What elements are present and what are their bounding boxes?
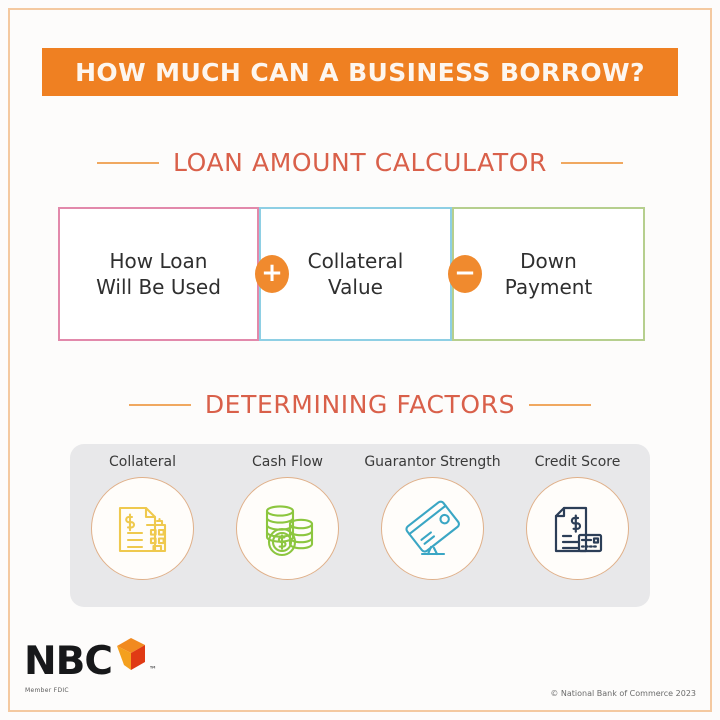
section-heading-factors-label: DETERMINING FACTORS <box>205 390 515 419</box>
minus-icon-glyph: − <box>454 260 476 286</box>
factor-collateral-label: Collateral <box>109 454 176 470</box>
factor-collateral: Collateral <box>75 454 211 580</box>
nbc-logo-trademark: ™ <box>149 665 157 674</box>
factor-guarantor-strength-label: Guarantor Strength <box>364 454 500 470</box>
heading-rule-right <box>529 404 591 406</box>
factor-credit-score-circle <box>526 477 629 580</box>
formula-box-down-payment-line2: Payment <box>505 275 593 299</box>
nbc-logo: NBC ™ <box>24 643 157 680</box>
page-title: HOW MUCH CAN A BUSINESS BORROW? <box>75 58 645 87</box>
formula-box-down-payment-label: Down Payment <box>499 248 599 301</box>
coin-stacks-icon <box>256 497 320 561</box>
section-heading-calculator-label: LOAN AMOUNT CALCULATOR <box>173 148 547 177</box>
formula-box-collateral-value-line2: Value <box>328 275 383 299</box>
factor-cash-flow-circle <box>236 477 339 580</box>
nbc-logo-text: NBC <box>24 643 112 680</box>
copyright-text: © National Bank of Commerce 2023 <box>550 689 696 698</box>
heading-rule-left <box>129 404 191 406</box>
credit-card-icon <box>401 497 465 561</box>
formula-box-collateral-value-line1: Collateral <box>308 249 404 273</box>
orange-cube-icon <box>114 634 148 674</box>
section-heading-factors: DETERMINING FACTORS <box>0 390 720 419</box>
factor-collateral-circle <box>91 477 194 580</box>
factor-credit-score: Credit Score <box>510 454 646 580</box>
factor-credit-score-label: Credit Score <box>535 454 621 470</box>
document-card-icon <box>546 497 610 561</box>
plus-icon-glyph: + <box>261 260 283 286</box>
formula-box-loan-use-line2: Will Be Used <box>96 275 221 299</box>
infographic-poster: HOW MUCH CAN A BUSINESS BORROW? LOAN AMO… <box>0 0 720 720</box>
plus-icon: + <box>255 255 289 293</box>
title-banner: HOW MUCH CAN A BUSINESS BORROW? <box>42 48 678 96</box>
loan-formula-row: How Loan Will Be Used Collateral Value D… <box>58 207 662 341</box>
formula-box-loan-use-label: How Loan Will Be Used <box>90 248 227 301</box>
formula-box-down-payment-line1: Down <box>520 249 577 273</box>
factor-guarantor-strength-circle <box>381 477 484 580</box>
formula-box-collateral-value-label: Collateral Value <box>302 248 410 301</box>
section-heading-calculator: LOAN AMOUNT CALCULATOR <box>0 148 720 177</box>
determining-factors-panel: Collateral <box>70 444 650 607</box>
factor-cash-flow: Cash Flow <box>220 454 356 580</box>
formula-box-loan-use-line1: How Loan <box>110 249 208 273</box>
document-building-icon <box>111 497 175 561</box>
formula-box-loan-use: How Loan Will Be Used <box>58 207 259 341</box>
factor-guarantor-strength: Guarantor Strength <box>365 454 501 580</box>
heading-rule-left <box>97 162 159 164</box>
factor-cash-flow-label: Cash Flow <box>252 454 323 470</box>
determining-factors-row: Collateral <box>70 444 650 607</box>
heading-rule-right <box>561 162 623 164</box>
minus-icon: − <box>448 255 482 293</box>
member-fdic-text: Member FDIC <box>25 687 69 694</box>
